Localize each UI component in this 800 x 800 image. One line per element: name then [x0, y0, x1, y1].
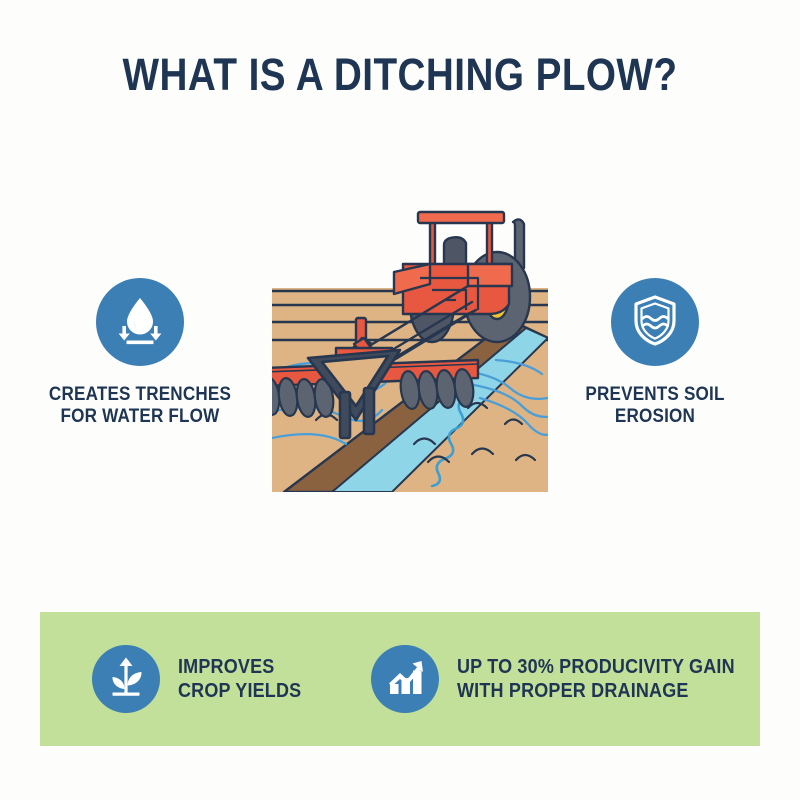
feature-creates-trenches: CREATES TRENCHES FOR WATER FLOW	[30, 278, 250, 429]
feature-prevents-erosion: PREVENTS SOIL EROSION	[545, 278, 765, 429]
banner-text-line1: UP TO 30% PRODUCIVITY GAIN	[457, 655, 735, 679]
banner-text-line2: CROP YIELDS	[178, 679, 301, 703]
banner-item-productivity-gain: UP TO 30% PRODUCIVITY GAIN WITH PROPER D…	[371, 645, 766, 713]
feature-label-creates-trenches: CREATES TRENCHES FOR WATER FLOW	[41, 384, 239, 429]
page-title: WHAT IS A DITCHING PLOW?	[56, 52, 744, 97]
water-drop-arrows-icon	[110, 290, 170, 355]
banner-text-productivity-gain: UP TO 30% PRODUCIVITY GAIN WITH PROPER D…	[457, 655, 735, 703]
shield-waves-icon	[626, 291, 684, 354]
banner-icon-badge-productivity	[371, 645, 439, 713]
feature-icon-badge-left	[96, 278, 184, 366]
feature-label-prevents-erosion: PREVENTS SOIL EROSION	[556, 384, 754, 429]
benefits-banner: IMPROVES CROP YIELDS	[40, 612, 760, 746]
feature-icon-badge-right	[611, 278, 699, 366]
tractor-ditching-plow-illustration	[272, 192, 548, 492]
feature-label-line1: CREATES TRENCHES	[41, 384, 239, 406]
banner-text-crop-yields: IMPROVES CROP YIELDS	[178, 655, 301, 703]
feature-label-line2: EROSION	[556, 406, 754, 428]
feature-label-line2: FOR WATER FLOW	[41, 406, 239, 428]
feature-label-line1: PREVENTS SOIL	[556, 384, 754, 406]
banner-text-line1: IMPROVES	[178, 655, 301, 679]
banner-item-crop-yields: IMPROVES CROP YIELDS	[92, 645, 315, 713]
bar-chart-arrow-icon	[383, 655, 427, 704]
banner-icon-badge-crop	[92, 645, 160, 713]
banner-text-line2: WITH PROPER DRAINAGE	[457, 679, 735, 703]
sprout-arrow-icon	[103, 654, 149, 705]
